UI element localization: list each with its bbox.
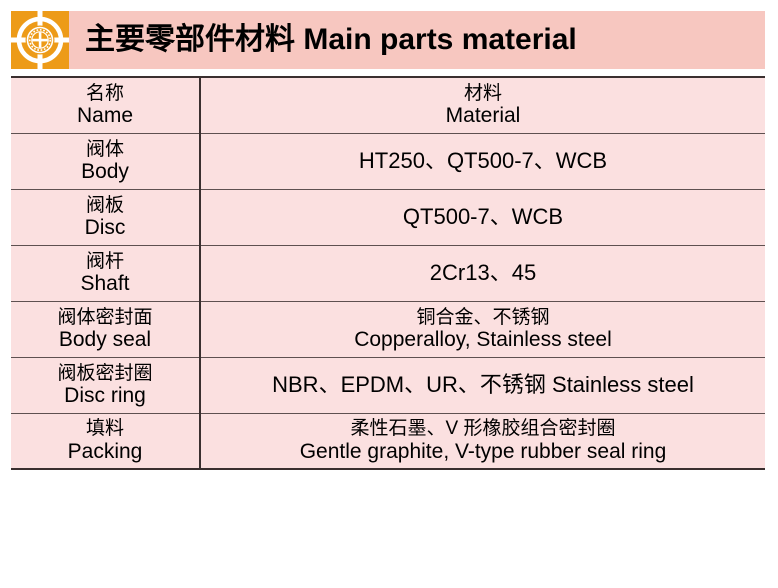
header-name-cn: 名称 xyxy=(15,83,195,104)
header-name-en: Name xyxy=(15,104,195,128)
row-name-en: Disc ring xyxy=(15,384,195,408)
row-name-cell: 阀杆 Shaft xyxy=(11,245,200,301)
row-name-cell: 阀体 Body xyxy=(11,133,200,189)
row-name-cn: 阀杆 xyxy=(15,251,195,272)
row-material-cell: HT250、QT500-7、WCB xyxy=(200,133,765,189)
table-row: 阀杆 Shaft 2Cr13、45 xyxy=(11,245,765,301)
table-row: 阀体 Body HT250、QT500-7、WCB xyxy=(11,133,765,189)
page-title: 主要零部件材料 Main parts material xyxy=(85,11,761,69)
row-material-line1: HT250、QT500-7、WCB xyxy=(205,149,761,174)
row-name-en: Body xyxy=(15,160,195,184)
row-name-cn: 阀体 xyxy=(15,139,195,160)
header-banner: 主要零部件材料 Main parts material xyxy=(11,11,765,69)
header-cell-material: 材料 Material xyxy=(200,77,765,133)
header-cell-name: 名称 Name xyxy=(11,77,200,133)
row-material-line1: NBR、EPDM、UR、不锈钢 Stainless steel xyxy=(205,373,761,398)
row-material-cell: QT500-7、WCB xyxy=(200,189,765,245)
table-row: 阀体密封面 Body seal 铜合金、不锈钢 Copperalloy, Sta… xyxy=(11,301,765,357)
table-header-row: 名称 Name 材料 Material xyxy=(11,77,765,133)
row-material-line2: Copperalloy, Stainless steel xyxy=(205,328,761,352)
row-name-cn: 填料 xyxy=(15,418,195,439)
table-row: 填料 Packing 柔性石墨、V 形橡胶组合密封圈 Gentle graphi… xyxy=(11,413,765,469)
row-material-cell: 柔性石墨、V 形橡胶组合密封圈 Gentle graphite, V-type … xyxy=(200,413,765,469)
table-row: 阀板 Disc QT500-7、WCB xyxy=(11,189,765,245)
row-material-line2: Gentle graphite, V-type rubber seal ring xyxy=(205,440,761,464)
row-name-cn: 阀体密封面 xyxy=(15,307,195,328)
main-parts-material-table: 名称 Name 材料 Material 阀体 Body HT250、QT500-… xyxy=(11,76,765,470)
row-material-cell: NBR、EPDM、UR、不锈钢 Stainless steel xyxy=(200,357,765,413)
header-material-en: Material xyxy=(205,104,761,128)
row-material-cell: 2Cr13、45 xyxy=(200,245,765,301)
company-logo xyxy=(11,11,69,69)
row-material-cell: 铜合金、不锈钢 Copperalloy, Stainless steel xyxy=(200,301,765,357)
row-material-line1: QT500-7、WCB xyxy=(205,205,761,230)
row-name-cell: 填料 Packing xyxy=(11,413,200,469)
header-material-cn: 材料 xyxy=(205,83,761,104)
row-name-cn: 阀板密封圈 xyxy=(15,363,195,384)
row-name-cn: 阀板 xyxy=(15,195,195,216)
row-name-en: Shaft xyxy=(15,272,195,296)
row-name-en: Packing xyxy=(15,440,195,464)
row-name-en: Body seal xyxy=(15,328,195,352)
row-name-cell: 阀板 Disc xyxy=(11,189,200,245)
table-row: 阀板密封圈 Disc ring NBR、EPDM、UR、不锈钢 Stainles… xyxy=(11,357,765,413)
row-name-cell: 阀体密封面 Body seal xyxy=(11,301,200,357)
row-material-line1: 2Cr13、45 xyxy=(205,261,761,286)
row-material-line1: 铜合金、不锈钢 xyxy=(205,307,761,328)
row-name-cell: 阀板密封圈 Disc ring xyxy=(11,357,200,413)
target-cross-logo-icon xyxy=(11,11,69,69)
row-material-line1: 柔性石墨、V 形橡胶组合密封圈 xyxy=(205,418,761,439)
row-name-en: Disc xyxy=(15,216,195,240)
